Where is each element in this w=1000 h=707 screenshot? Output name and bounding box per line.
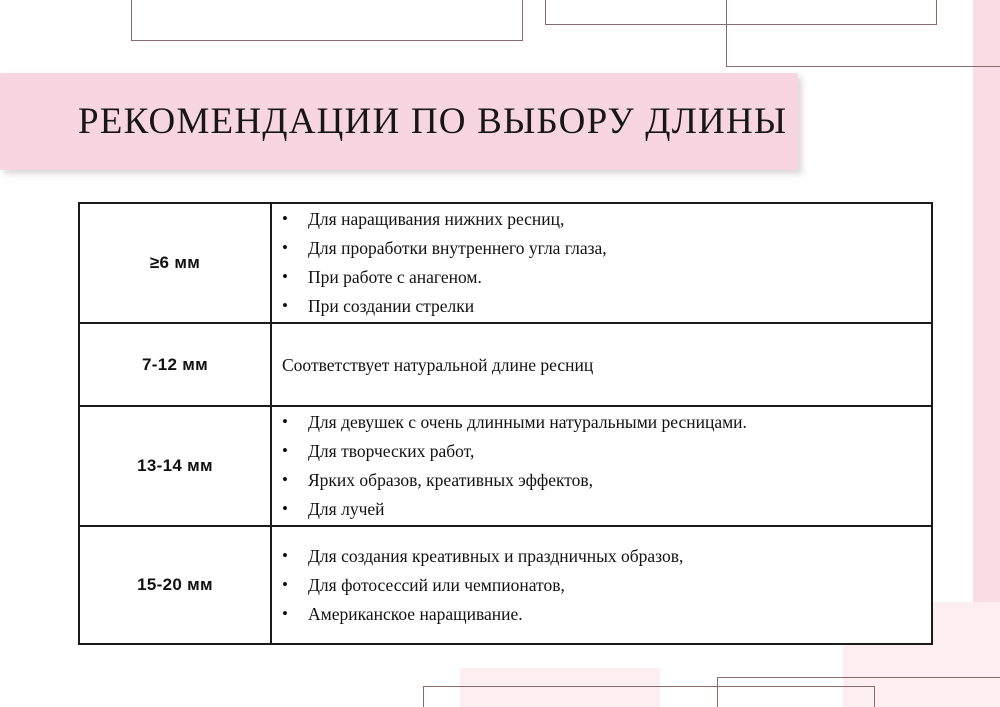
list-item: Американское наращивание. xyxy=(272,601,931,628)
size-label: 13-14 мм xyxy=(137,456,213,475)
table-body: ≥6 мм Для наращивания нижних ресниц, Для… xyxy=(79,203,932,644)
row-description-cell: Для девушек с очень длинными натуральным… xyxy=(271,406,932,526)
list-item: Для творческих работ, xyxy=(272,438,931,465)
table-row: 15-20 мм Для создания креативных и празд… xyxy=(79,526,932,644)
list-item: Для девушек с очень длинными натуральным… xyxy=(272,409,931,436)
size-label: 7-12 мм xyxy=(142,355,208,374)
decor-frame-top-right xyxy=(726,0,1000,67)
decor-right-pink-band xyxy=(973,0,1000,707)
size-label: 15-20 мм xyxy=(137,575,213,594)
table-row: 13-14 мм Для девушек с очень длинными на… xyxy=(79,406,932,526)
page-title: РЕКОМЕНДАЦИИ ПО ВЫБОРУ ДЛИНЫ xyxy=(78,73,778,170)
list-item: При работе с анагеном. xyxy=(272,264,931,291)
list-item: При создании стрелки xyxy=(272,293,931,320)
row-description-cell: Для создания креативных и праздничных об… xyxy=(271,526,932,644)
bullet-list: Для девушек с очень длинными натуральным… xyxy=(272,409,931,523)
decor-frame-top-left xyxy=(131,0,523,41)
list-item: Для создания креативных и праздничных об… xyxy=(272,543,931,570)
row-size-cell: 7-12 мм xyxy=(79,323,271,406)
table-row: 7-12 мм Соответствует натуральной длине … xyxy=(79,323,932,406)
list-item: Для лучей xyxy=(272,496,931,523)
row-description-cell: Соответствует натуральной длине ресниц xyxy=(271,323,932,406)
table-row: ≥6 мм Для наращивания нижних ресниц, Для… xyxy=(79,203,932,323)
decor-frame-bottom-right xyxy=(717,677,1000,707)
length-recommendation-table: ≥6 мм Для наращивания нижних ресниц, Для… xyxy=(78,202,933,645)
bullet-list: Для создания креативных и праздничных об… xyxy=(272,543,931,628)
list-item: Для наращивания нижних ресниц, xyxy=(272,206,931,233)
row-description-cell: Для наращивания нижних ресниц, Для прора… xyxy=(271,203,932,323)
row-size-cell: 13-14 мм xyxy=(79,406,271,526)
list-item: Для проработки внутреннего угла глаза, xyxy=(272,235,931,262)
row-size-cell: ≥6 мм xyxy=(79,203,271,323)
slide-canvas: РЕКОМЕНДАЦИИ ПО ВЫБОРУ ДЛИНЫ ≥6 мм Для н… xyxy=(0,0,1000,707)
size-label: ≥6 мм xyxy=(150,253,200,272)
bullet-list: Для наращивания нижних ресниц, Для прора… xyxy=(272,206,931,320)
description-text: Соответствует натуральной длине ресниц xyxy=(272,352,931,378)
list-item: Для фотосессий или чемпионатов, xyxy=(272,572,931,599)
list-item: Ярких образов, креативных эффектов, xyxy=(272,467,931,494)
row-size-cell: 15-20 мм xyxy=(79,526,271,644)
